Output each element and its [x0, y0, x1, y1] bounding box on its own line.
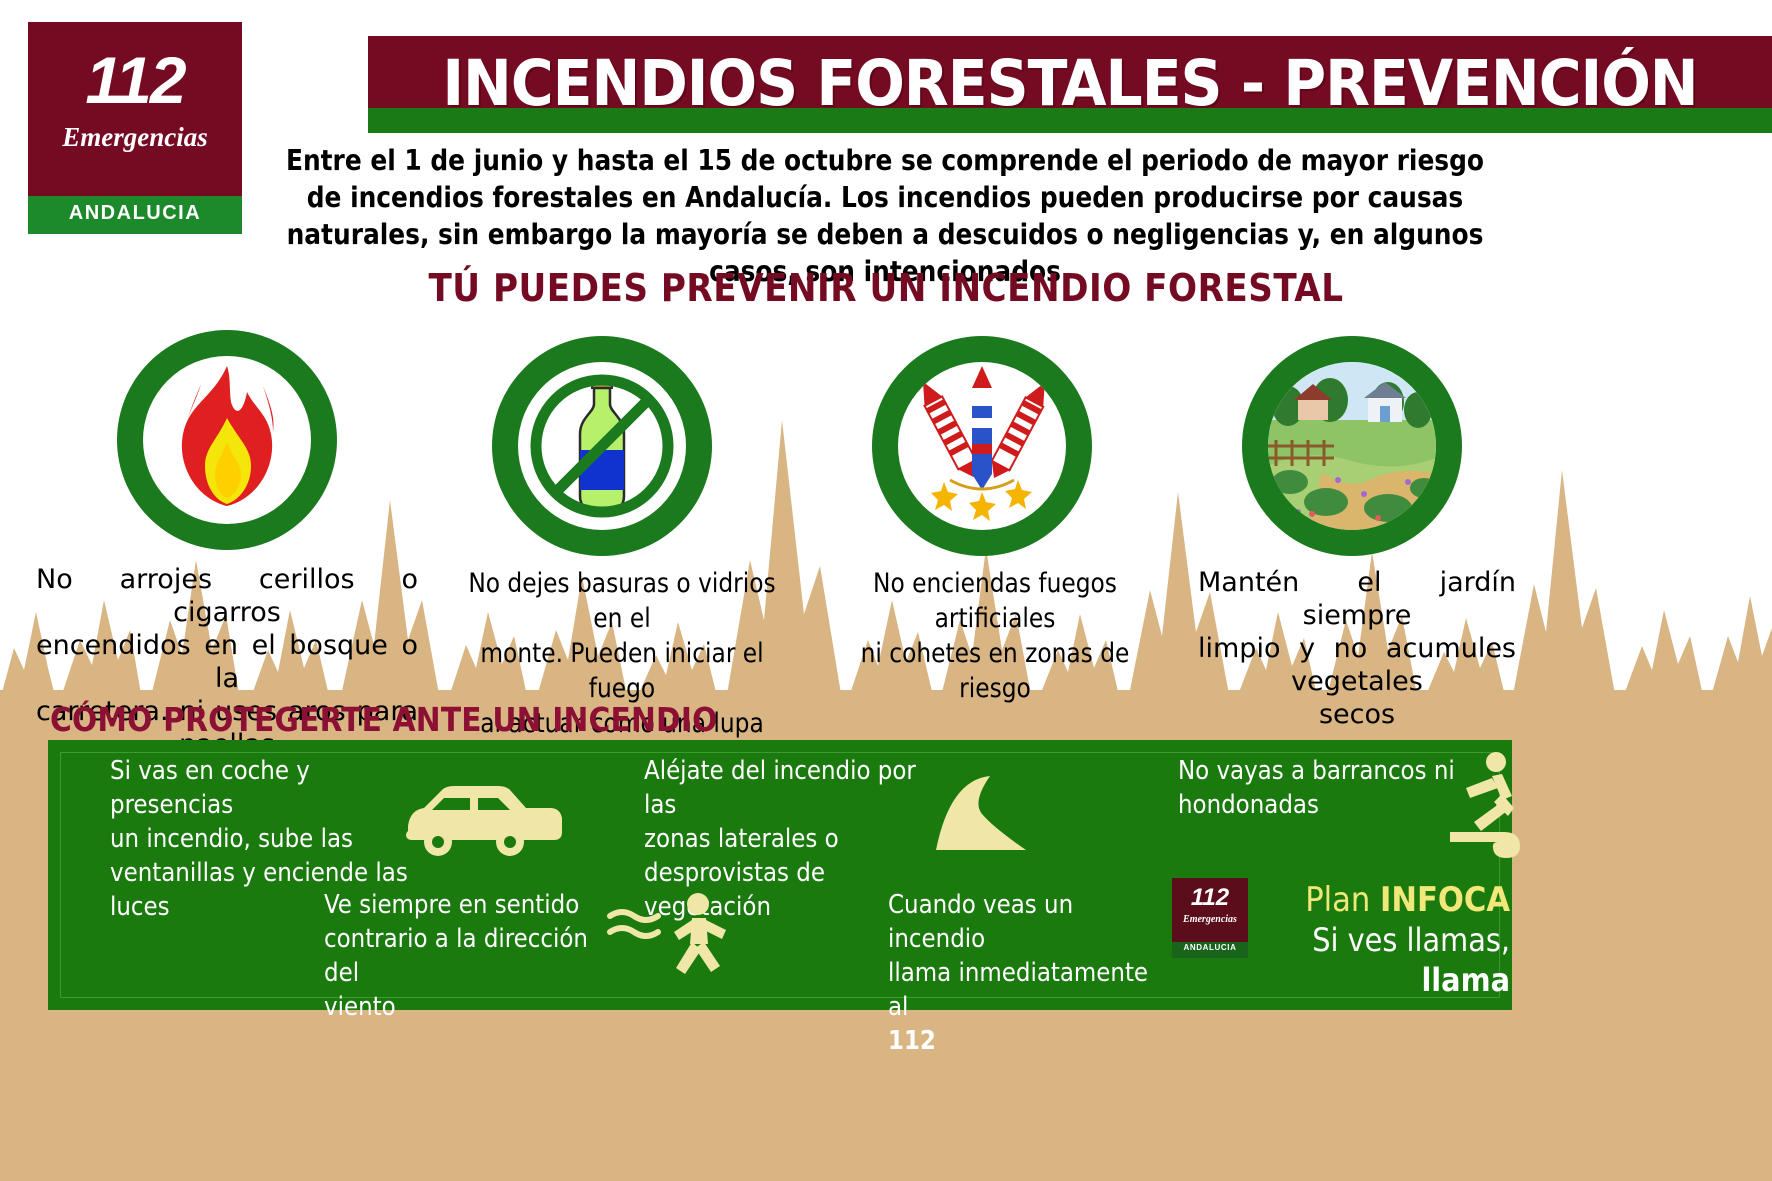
prevention-circle-fireworks [872, 336, 1092, 556]
tip-line: No vayas a barrancos ni [1178, 754, 1458, 788]
circle-inner-white [898, 362, 1066, 530]
caption-line: ni cohetes en zonas de riesgo [837, 636, 1154, 706]
logo-number: 112 [28, 42, 242, 118]
prevention-circle-garden [1242, 336, 1462, 556]
tip-line: zonas laterales o [644, 822, 934, 856]
circle-inner-white [1268, 362, 1436, 530]
circle-inner-white [143, 356, 311, 524]
emergency-number: 112 [888, 1026, 936, 1056]
protection-tip-call: Cuando veas un incendio llama inmediatam… [888, 888, 1158, 1058]
caption-line: No dejes basuras o vidrios en el [459, 566, 785, 636]
firework-icon [898, 362, 1066, 530]
slope-icon [928, 770, 1038, 856]
circle-inner-white [518, 362, 686, 530]
infoca-plan-line: Plan INFOCA [1220, 880, 1510, 920]
slogan-emphasis: llama [1421, 961, 1510, 999]
protection-panel: Si vas en coche y presencias un incendio… [48, 740, 1512, 1010]
caption-line: monte. Pueden iniciar el fuego [459, 636, 785, 706]
infoca-block: Plan INFOCA Si ves llamas, llama [1220, 880, 1510, 1000]
infoca-slogan-line: Si ves llamas, llama [1220, 920, 1510, 1000]
prevention-circle-no-bottle [492, 336, 712, 556]
caption-line: No arrojes cerillos o cigarros [36, 563, 418, 629]
protection-tip-ravine: No vayas a barrancos ni hondonadas [1178, 754, 1458, 822]
tip-line: viento [324, 990, 604, 1024]
page-title: INCENDIOS FORESTALES - PREVENCIÓN [347, 34, 1772, 134]
logo-region-andalucia: ANDALUCIA [28, 202, 242, 225]
tip-line: un incendio, sube las [110, 822, 410, 856]
tip-line: ventanillas y enciende las [110, 856, 410, 890]
caption-line: limpio y no acumules vegetales [1198, 632, 1516, 698]
tip-line: contrario a la dirección del [324, 922, 604, 990]
tip-line: Si vas en coche y presencias [110, 754, 410, 822]
garden-house-icon [1268, 362, 1436, 530]
tip-line: hondonadas [1178, 788, 1458, 822]
car-icon [398, 772, 568, 858]
prevention-caption-4: Mantén el jardín siempre limpio y no acu… [1198, 566, 1516, 731]
prevention-caption-3: No enciendas fuegos artificiales ni cohe… [837, 566, 1154, 706]
title-banner: INCENDIOS FORESTALES - PREVENCIÓN [368, 36, 1772, 133]
tip-line: llama inmediatamente al [888, 956, 1158, 1024]
slogan-prefix: Si ves llamas, [1312, 921, 1510, 959]
tip-line: Cuando veas un incendio [888, 888, 1158, 956]
section-subtitle: TÚ PUEDES PREVENIR UN INCENDIO FORESTAL [0, 266, 1772, 310]
tip-line: Ve siempre en sentido [324, 888, 604, 922]
wind-walker-icon [606, 890, 736, 980]
logo-word-emergencias: Emergencias [28, 122, 242, 153]
caption-line: Mantén el jardín siempre [1198, 566, 1516, 632]
logo-112-emergencias: 112 Emergencias ANDALUCIA [28, 22, 242, 234]
protection-heading: CÓMO PROTEGERTE ANTE UN INCENDIO [50, 700, 718, 739]
caption-line: No enciendas fuegos artificiales [837, 566, 1154, 636]
caption-line: secos [1198, 698, 1516, 731]
caption-line: encendidos en el bosque o la [36, 629, 418, 695]
plan-prefix: Plan [1305, 880, 1380, 920]
no-bottle-icon [518, 362, 686, 530]
flame-icon [143, 356, 311, 524]
running-person-icon [1440, 750, 1530, 860]
prevention-circle-flame [117, 330, 337, 550]
plan-name: INFOCA [1380, 880, 1510, 920]
protection-tip-wind: Ve siempre en sentido contrario a la dir… [324, 888, 604, 1024]
tip-line: Aléjate del incendio por las [644, 754, 934, 822]
